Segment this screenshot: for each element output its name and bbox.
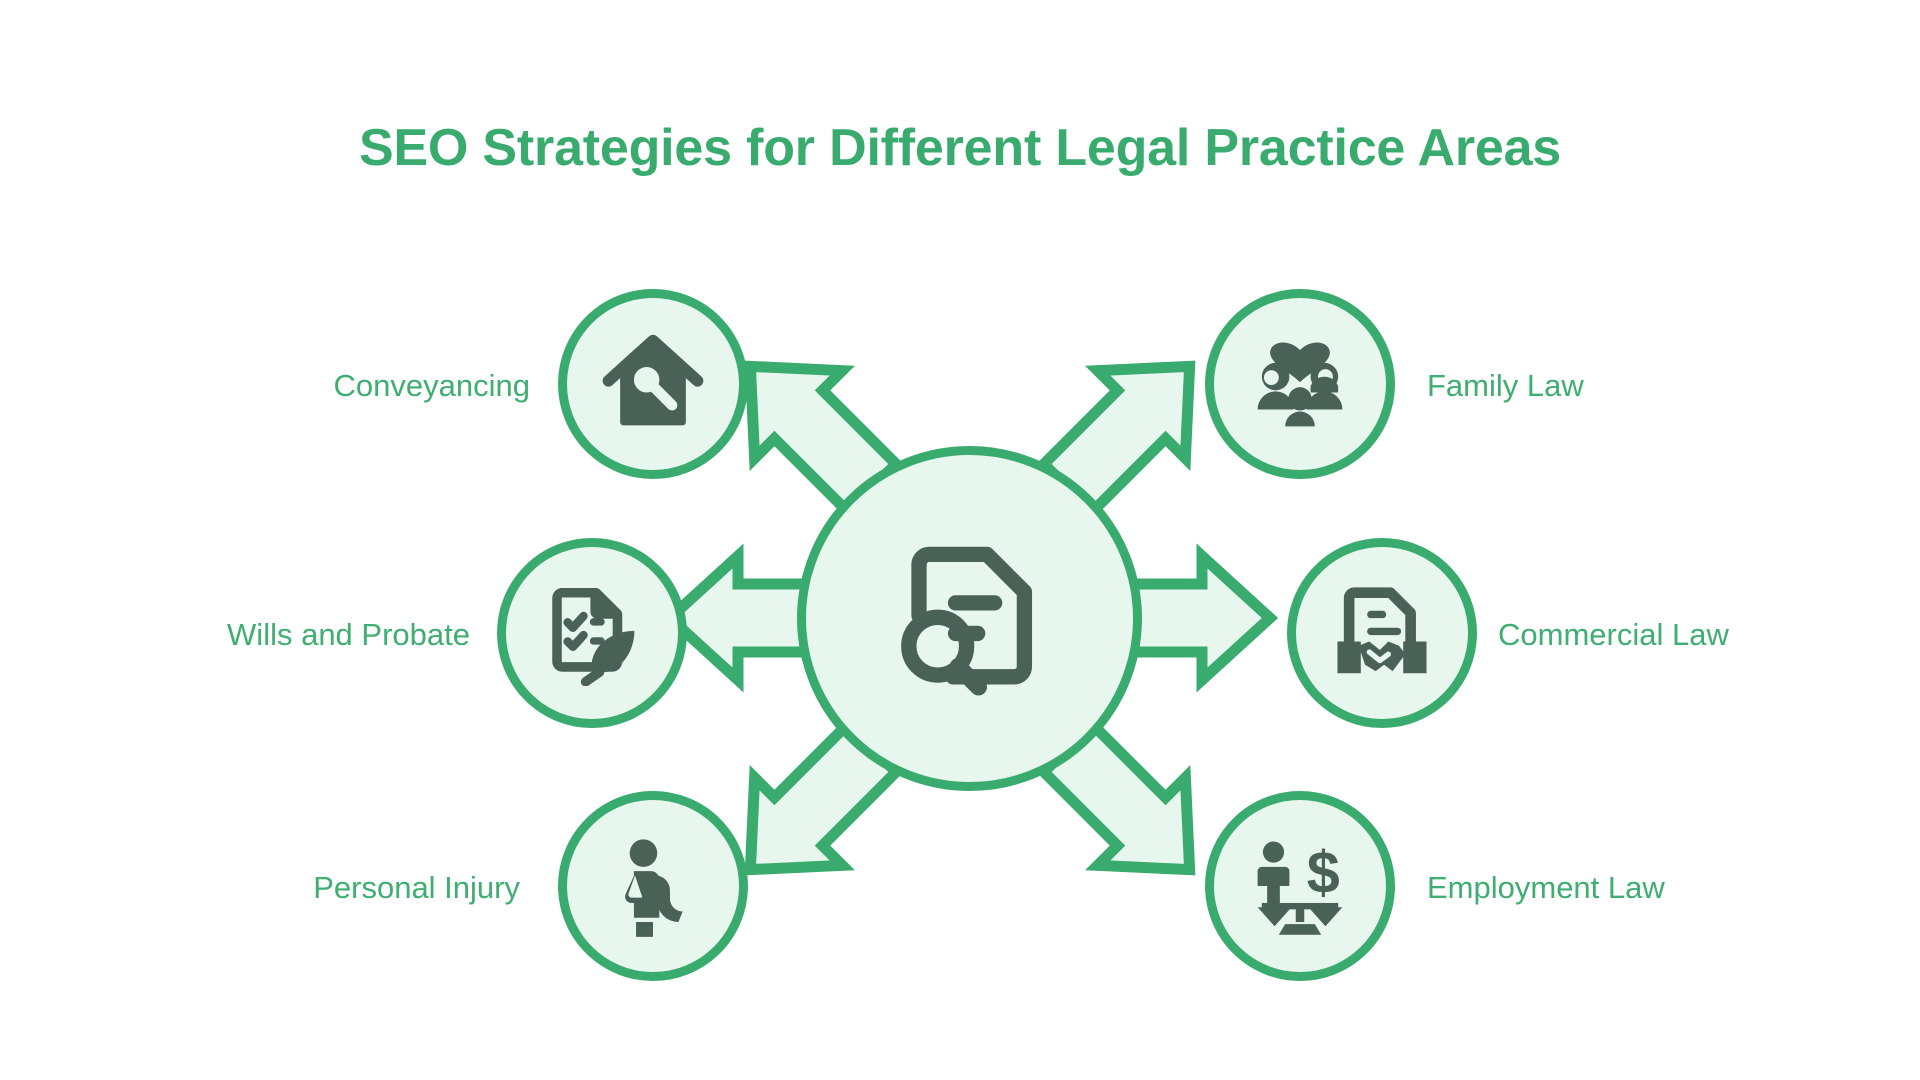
label-employment-law: Employment Law	[1427, 872, 1867, 903]
will-document-quill-icon	[539, 580, 645, 686]
label-commercial-law: Commercial Law	[1498, 619, 1920, 650]
house-key-icon	[600, 331, 706, 437]
page-title: SEO Strategies for Different Legal Pract…	[0, 118, 1920, 178]
node-personal-injury[interactable]	[558, 791, 748, 981]
contract-handshake-icon	[1329, 580, 1435, 686]
label-wills-and-probate: Wills and Probate	[40, 619, 470, 650]
node-commercial-law[interactable]	[1287, 538, 1477, 728]
svg-text:$: $	[1307, 838, 1340, 905]
node-wills-and-probate[interactable]	[497, 538, 687, 728]
injured-person-sling-icon	[600, 833, 706, 939]
scales-person-money-icon: $	[1247, 833, 1353, 939]
node-employment-law[interactable]: $	[1205, 791, 1395, 981]
hub-node	[797, 446, 1142, 791]
node-family-law[interactable]	[1205, 289, 1395, 479]
family-heart-icon	[1247, 331, 1353, 437]
infographic-canvas: SEO Strategies for Different Legal Pract…	[0, 0, 1920, 1080]
document-search-icon	[885, 534, 1055, 704]
label-personal-injury: Personal Injury	[90, 872, 520, 903]
label-conveyancing: Conveyancing	[100, 370, 530, 401]
label-family-law: Family Law	[1427, 370, 1857, 401]
node-conveyancing[interactable]	[558, 289, 748, 479]
